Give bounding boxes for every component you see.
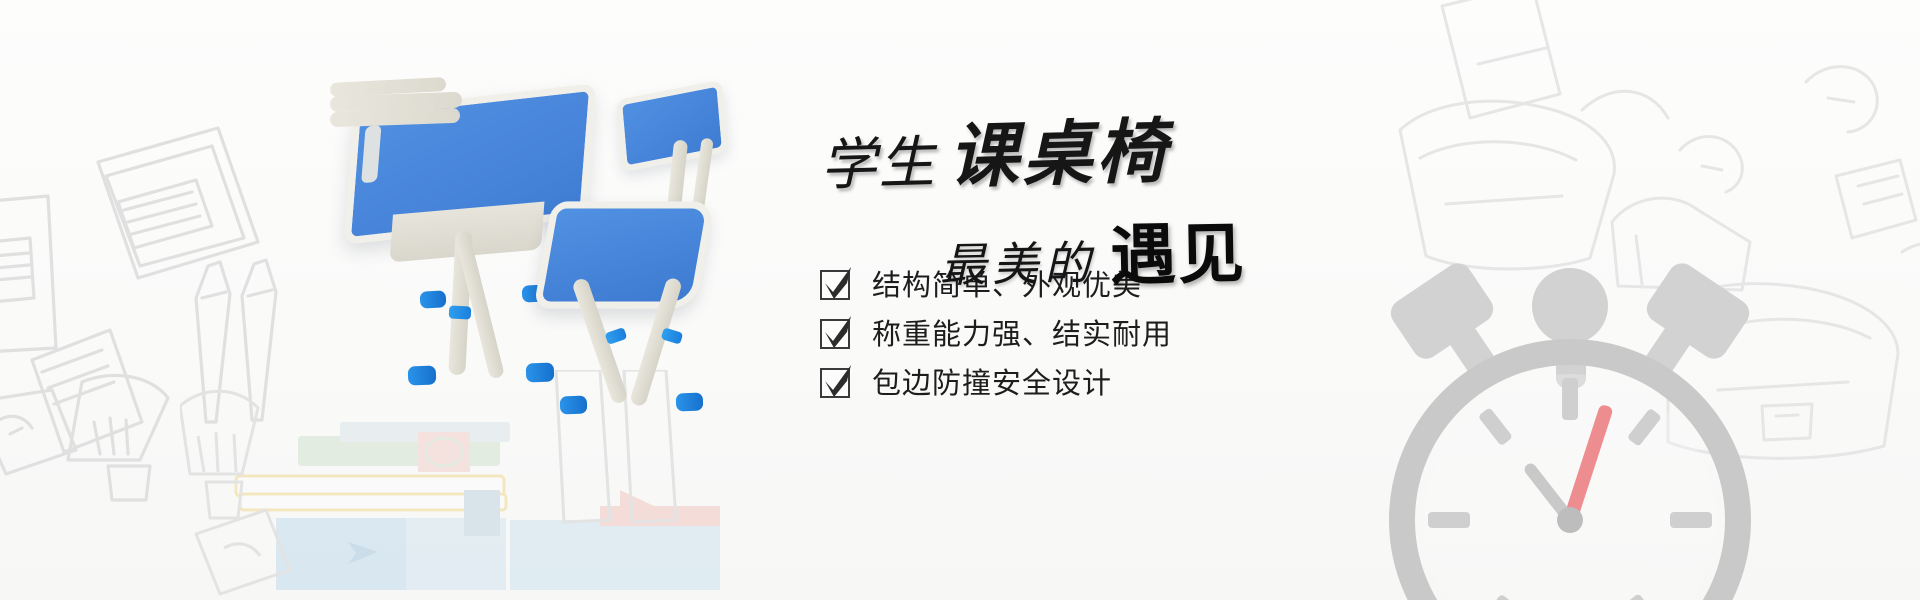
chair-foot-cap-right	[676, 393, 704, 412]
headline-line1-big: 课桌椅	[947, 114, 1171, 197]
checkbox-checked-icon	[820, 319, 850, 349]
headline-line-1: 学生课桌椅	[819, 88, 1461, 206]
chair-seat	[533, 201, 714, 308]
feature-label: 包边防撞安全设计	[872, 369, 1112, 398]
headline-line1-small: 学生	[820, 132, 938, 197]
feature-item: 称重能力强、结实耐用	[820, 319, 1460, 349]
checkbox-checked-icon	[820, 270, 850, 300]
desk-foot-cap-left	[408, 366, 437, 386]
checkbox-checked-icon	[820, 368, 850, 398]
desk-cross-cap-left	[420, 290, 447, 308]
desk-leg-ring	[449, 305, 472, 319]
headline-line-2: 最美的遇见	[939, 196, 1461, 301]
chair-leg-ring-left	[605, 327, 628, 345]
promo-banner: 学生课桌椅 最美的遇见 结构简单、外观优美 称重能力强、结实耐用 包	[0, 0, 1920, 600]
headline: 学生课桌椅 最美的遇见	[820, 96, 1460, 236]
headline-line2-bold: 遇见	[1109, 218, 1246, 293]
student-desk-and-chair	[330, 80, 760, 440]
desk-foot-cap-right	[526, 363, 555, 383]
feature-item: 包边防撞安全设计	[820, 368, 1460, 398]
chair-foot-cap-left	[560, 396, 588, 415]
feature-label: 称重能力强、结实耐用	[872, 320, 1172, 349]
headline-line2-small: 最美的	[940, 238, 1097, 292]
banner-copy: 学生课桌椅 最美的遇见 结构简单、外观优美 称重能力强、结实耐用 包	[820, 96, 1460, 417]
